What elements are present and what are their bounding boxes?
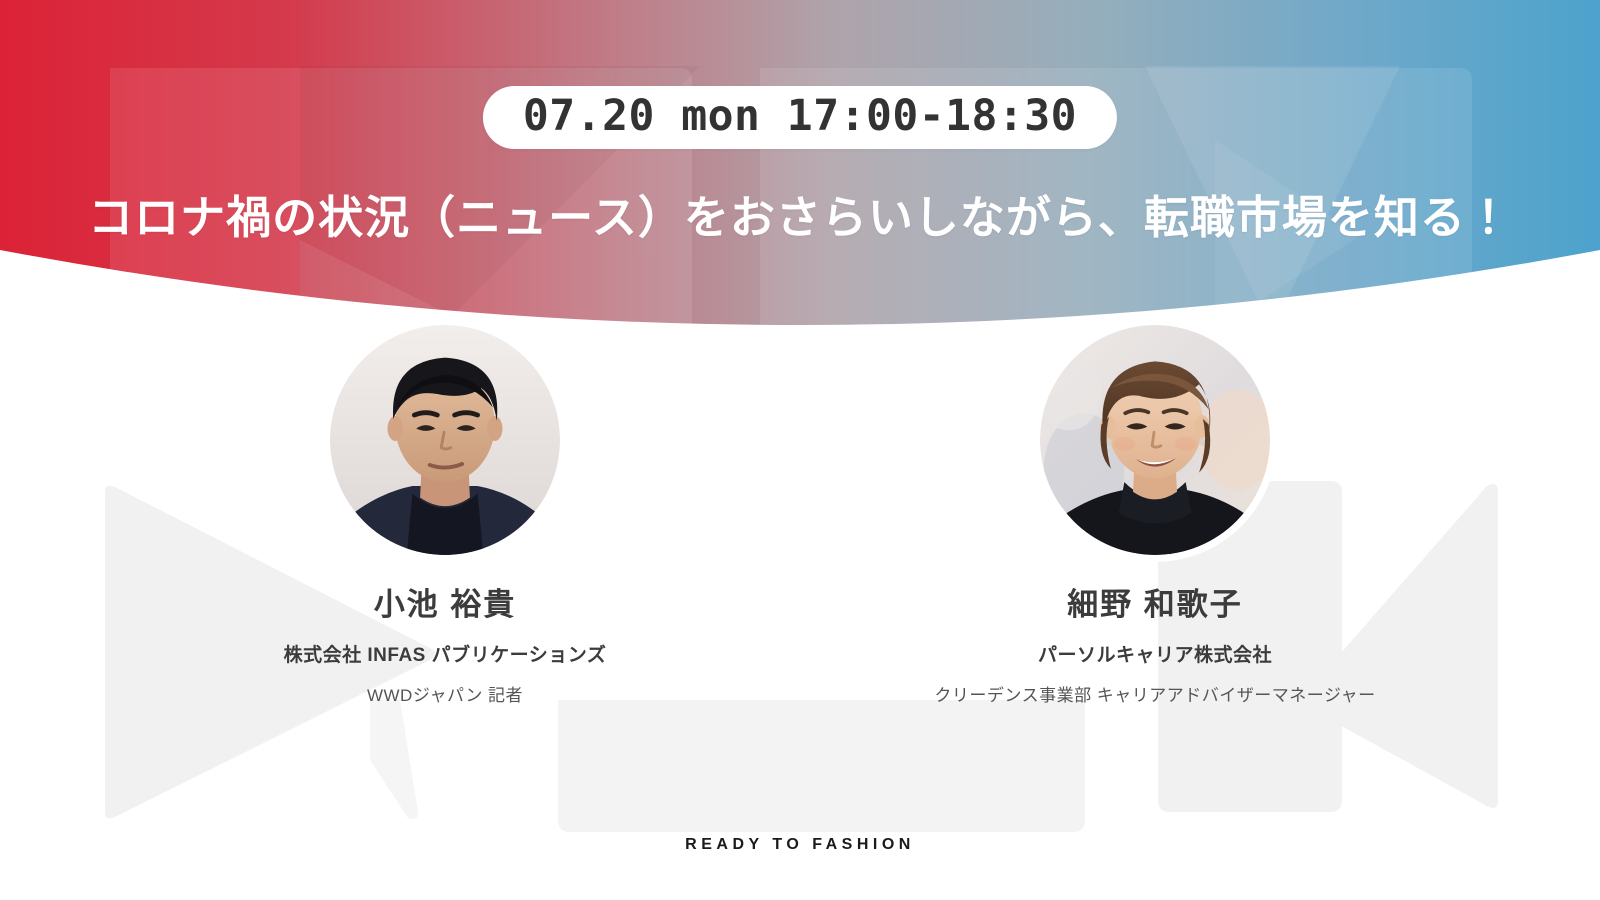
speaker-name: 小池 裕貴: [374, 588, 517, 622]
speaker-role: クリーデンス事業部 キャリアアドバイザーマネージャー: [934, 681, 1375, 706]
avatar: [1033, 318, 1277, 562]
avatar-image-koike: [330, 325, 560, 555]
panel-left-sliver: [370, 700, 418, 819]
page-title: コロナ禍の状況（ニュース）をおさらいしながら、転職市場を知る！: [0, 190, 1600, 246]
panel-center-block: [558, 700, 1085, 832]
brand-logo-text: READY TO FASHION: [0, 836, 1600, 854]
avatar-image-hosono: [1040, 325, 1270, 555]
speaker-name: 細野 和歌子: [1067, 588, 1243, 622]
event-date-badge: 07.20 mon 17:00-18:30: [483, 86, 1117, 149]
gradient-banner: [0, 0, 1600, 345]
speaker-card-1: 小池 裕貴 株式会社 INFAS パブリケーションズ WWDジャパン 記者: [235, 318, 655, 706]
avatar: [323, 318, 567, 562]
event-banner-stage: 07.20 mon 17:00-18:30 コロナ禍の状況（ニュース）をおさらい…: [0, 0, 1600, 900]
speaker-list: 小池 裕貴 株式会社 INFAS パブリケーションズ WWDジャパン 記者: [0, 318, 1600, 706]
event-date-text: 07.20 mon 17:00-18:30: [523, 91, 1077, 141]
speaker-card-2: 細野 和歌子 パーソルキャリア株式会社 クリーデンス事業部 キャリアアドバイザー…: [945, 318, 1365, 706]
speaker-company: 株式会社 INFAS パブリケーションズ: [284, 640, 607, 667]
speaker-role: WWDジャパン 記者: [367, 681, 523, 706]
speaker-company: パーソルキャリア株式会社: [1038, 640, 1272, 667]
